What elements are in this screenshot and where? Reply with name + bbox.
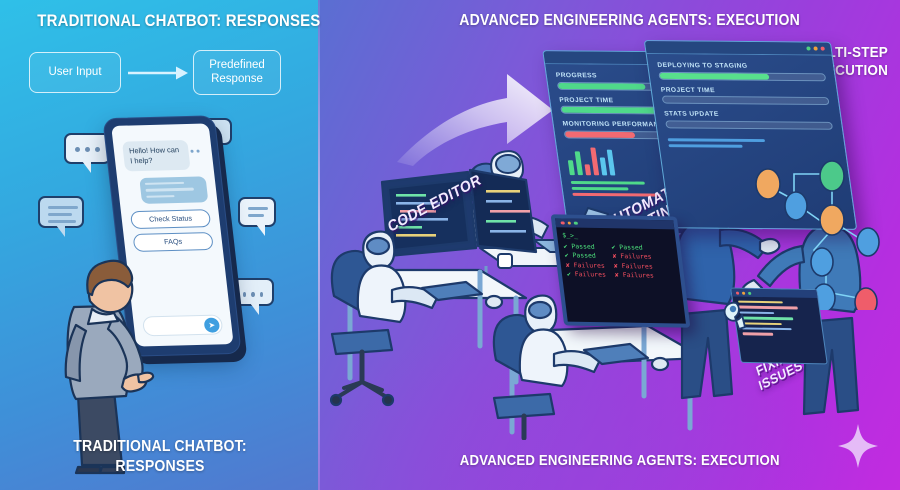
bar-label: DEPLOYING TO STAGING: [657, 62, 825, 70]
code-lines: [732, 297, 823, 344]
caption-right: ADVANCED ENGINEERING AGENTS: EXECUTION: [460, 452, 780, 469]
bar-label: PROJECT TIME: [660, 86, 828, 94]
automated-test-monitor[interactable]: $_>_ ✔ Passed ✔ Passed ✘ Failures ✔ Fail…: [551, 214, 691, 327]
page-title-left: TRADITIONAL CHATBOT: RESPONSES: [37, 11, 320, 31]
test-result: Failures: [573, 261, 605, 269]
test-result: Failures: [574, 270, 606, 278]
progress-bar: [662, 96, 830, 105]
page-title-right: ADVANCED ENGINEERING AGENTS: EXECUTION: [459, 12, 800, 30]
chat-message-outgoing: [139, 176, 209, 204]
sparkle-icon: [838, 424, 878, 468]
progress-bar: [665, 120, 833, 129]
test-column-left: ✔ Passed ✔ Passed ✘ Failures ✔ Failures: [563, 242, 606, 280]
terminal-prompt: $_>_: [562, 231, 671, 241]
test-column-right: ✔ Passed ✘ Failures ✘ Failures ✘ Failure…: [611, 243, 654, 281]
progress-bar: [658, 71, 826, 80]
panel-divider: [318, 0, 320, 490]
test-result: Passed: [572, 252, 596, 260]
speech-bubble-lower-right: [232, 278, 274, 306]
arrow-right-icon: [128, 64, 188, 82]
person-illustration: [52, 215, 162, 475]
flow-box-predefined-response: Predefined Response: [193, 50, 281, 95]
wrench-icon: [716, 300, 746, 332]
terminal-output: $_>_ ✔ Passed ✔ Passed ✘ Failures ✔ Fail…: [556, 227, 681, 285]
test-result: Failures: [621, 262, 653, 270]
flow-box-user-input: User Input: [29, 52, 121, 93]
workflow-node-graph: [754, 150, 894, 310]
test-result: Failures: [620, 252, 652, 260]
test-result: Failures: [622, 271, 654, 279]
bar-label: STATS UPDATE: [664, 111, 832, 119]
infographic-canvas: TRADITIONAL CHATBOT: RESPONSES User Inpu…: [0, 0, 900, 490]
speech-bubble-mid-right: [238, 197, 276, 227]
test-result: Passed: [571, 242, 595, 250]
test-result: Passed: [619, 243, 643, 251]
caption-left: TRADITIONAL CHATBOT:RESPONSES: [54, 437, 265, 477]
chat-message-greeting: Hello! How can I help?: [122, 140, 190, 171]
